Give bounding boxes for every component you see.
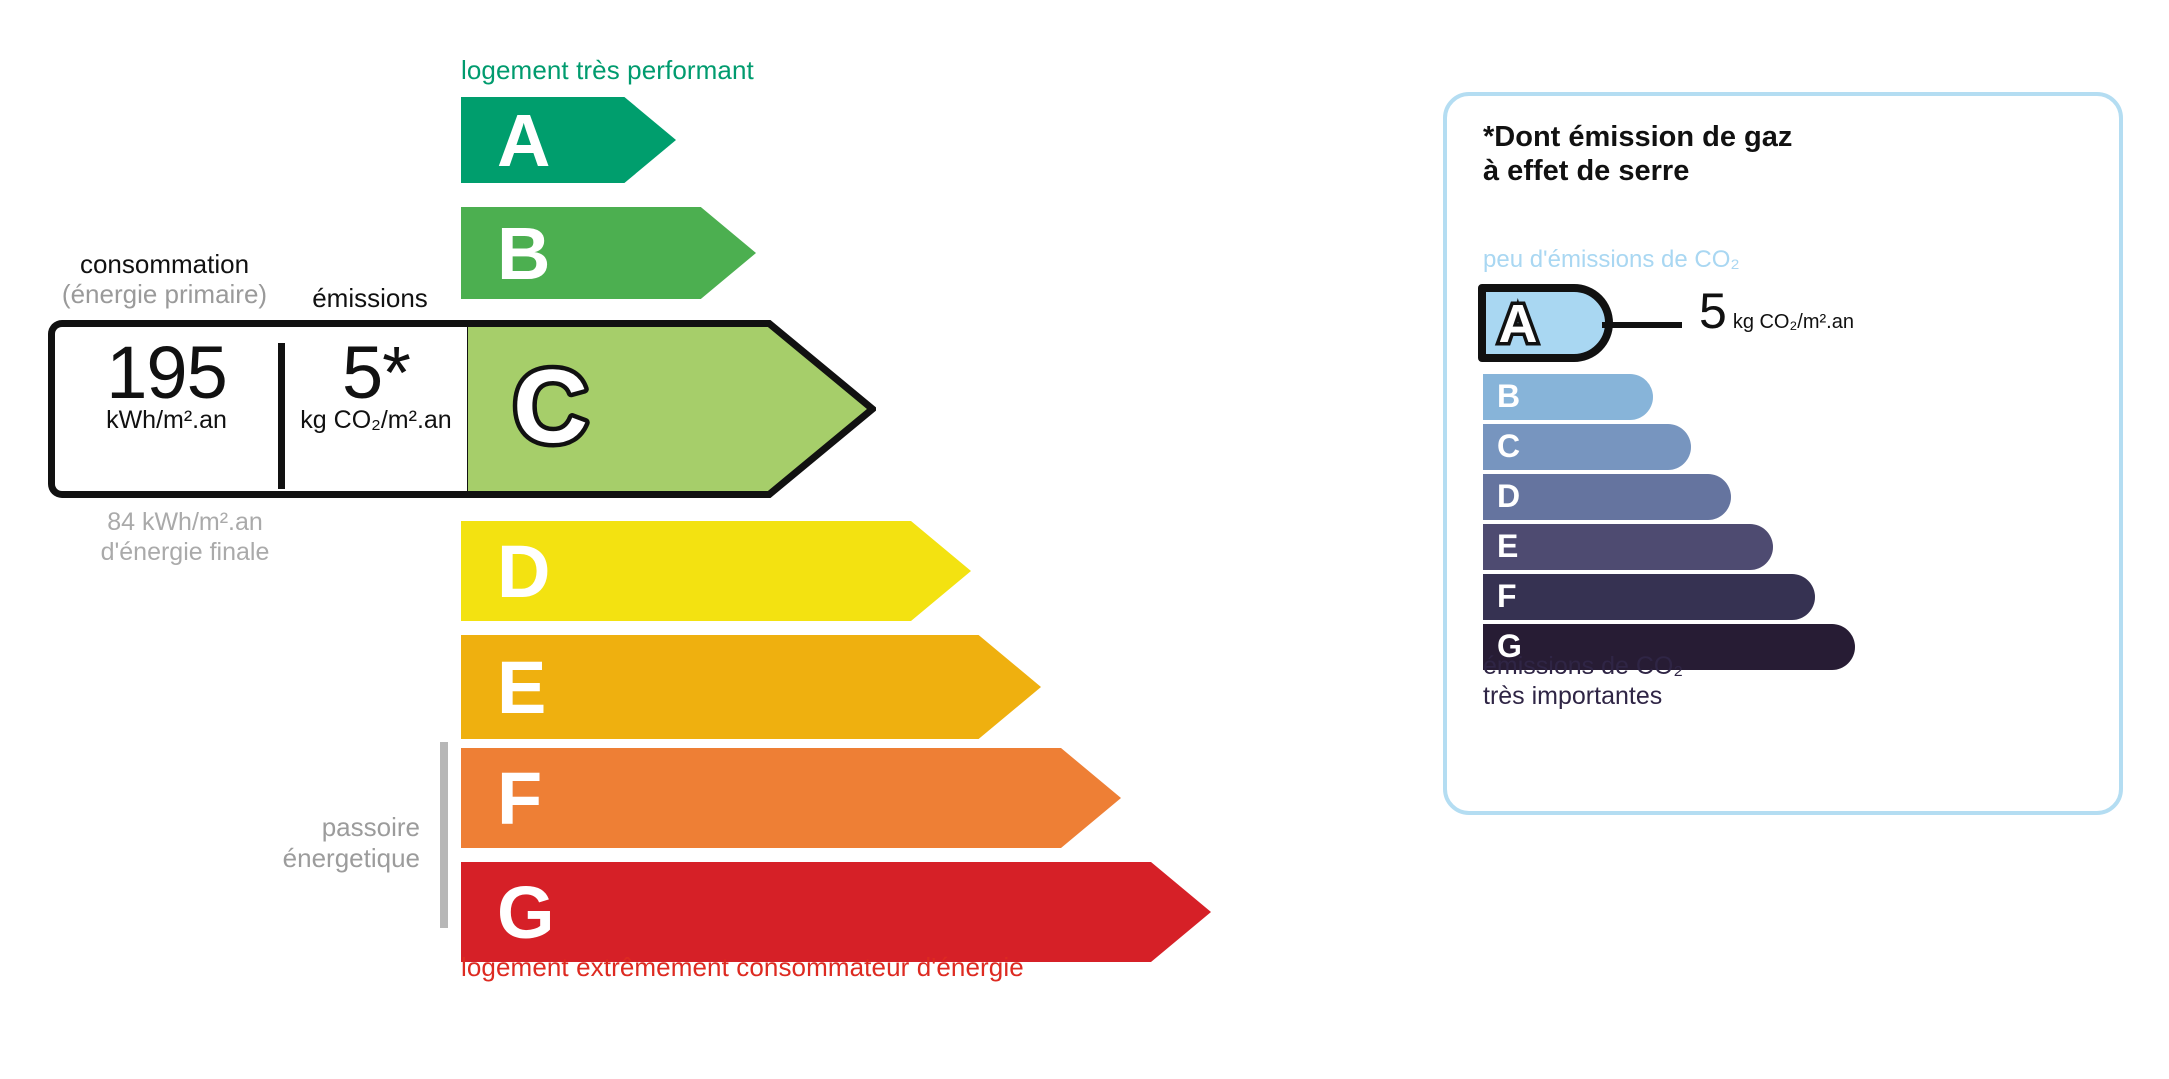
energy-band-d: D	[461, 521, 971, 621]
ges-bar-b: B	[1483, 374, 1653, 420]
consumption-cell: 195 kWh/m².an	[55, 335, 278, 435]
passoire-line1: passoire	[230, 812, 420, 843]
ges-bar-fill	[1483, 524, 1773, 570]
ges-bar-e: E	[1483, 524, 1773, 570]
ges-highlight-unit: kg CO₂/m².an	[1733, 311, 1854, 333]
energy-band-letter: A	[497, 99, 550, 182]
ges-highlight-value: 5	[1699, 283, 1727, 339]
emissions-unit: kg CO₂/m².an	[285, 406, 467, 435]
energy-band-arrow-icon: D	[461, 521, 971, 621]
energy-band-arrow-icon: B	[461, 207, 756, 299]
energy-band-c: C	[461, 320, 876, 498]
energy-band-g: G	[461, 862, 1211, 962]
ges-bar-letter: B	[1497, 380, 1520, 412]
ges-bar-fill	[1483, 574, 1815, 620]
passoire-line2: énergetique	[230, 843, 420, 874]
emissions-header: émissions	[290, 283, 450, 314]
energy-band-letter: C	[513, 349, 588, 465]
ges-bar-letter: E	[1497, 530, 1518, 562]
value-box-divider	[278, 343, 285, 489]
ges-bottom-caption: émissions de CO₂ très importantes	[1483, 651, 1683, 711]
consumption-header: consommation (énergie primaire)	[52, 250, 277, 309]
energy-band-arrow-icon: C	[461, 320, 876, 498]
passoire-label: passoire énergetique	[230, 812, 420, 874]
ges-bar-c: C	[1483, 424, 1691, 470]
energy-band-e: E	[461, 635, 1041, 739]
ges-top-caption: peu d'émissions de CO₂	[1483, 246, 1740, 274]
energy-band-arrow-icon: A	[461, 97, 676, 183]
consumption-header-line2: (énergie primaire)	[52, 280, 277, 310]
consumption-value: 195	[55, 335, 278, 410]
ges-highlight-badge: A	[1478, 284, 1613, 362]
energy-band-arrow-icon: F	[461, 748, 1121, 848]
ges-title: *Dont émission de gaz à effet de serre	[1483, 121, 1913, 189]
ges-bar-letter: D	[1497, 480, 1520, 512]
svg-text:A: A	[1499, 294, 1538, 354]
ges-bar-d: D	[1483, 474, 1731, 520]
final-energy-line1: 84 kWh/m².an	[70, 508, 300, 538]
ges-leader-line	[1602, 322, 1682, 328]
energy-band-arrow-icon: G	[461, 862, 1211, 962]
energy-band-arrow-icon: E	[461, 635, 1041, 739]
energy-band-letter: G	[497, 871, 555, 954]
ges-title-line2: à effet de serre	[1483, 155, 1913, 189]
energy-band-b: B	[461, 207, 756, 299]
passoire-bracket	[440, 742, 448, 928]
ges-bar-fill	[1483, 474, 1731, 520]
ges-bar-letter: F	[1497, 580, 1517, 612]
ges-highlight-value-group: 5kg CO₂/m².an	[1699, 286, 1854, 336]
energy-band-letter: F	[497, 757, 542, 840]
energy-band-letter: D	[497, 530, 550, 613]
consumption-header-line1: consommation	[52, 250, 277, 280]
energy-bottom-caption: logement extrêmement consommateur d'éner…	[461, 952, 1024, 983]
energy-band-a: A	[461, 97, 676, 183]
energy-band-letter: B	[497, 212, 550, 295]
energy-performance-panel: logement très performant ABCDEFG 195 kWh…	[0, 0, 1420, 1079]
energy-value-box: 195 kWh/m².an 5* kg CO₂/m².an	[48, 320, 467, 498]
ges-bottom-line1: émissions de CO₂	[1483, 651, 1683, 681]
ges-title-line1: *Dont émission de gaz	[1483, 121, 1913, 155]
emissions-cell: 5* kg CO₂/m².an	[285, 335, 467, 435]
final-energy-note: 84 kWh/m².an d'énergie finale	[70, 508, 300, 567]
emissions-value: 5*	[285, 335, 467, 410]
energy-top-caption: logement très performant	[461, 55, 754, 86]
ges-bar-letter: C	[1497, 430, 1520, 462]
ges-bar-f: F	[1483, 574, 1815, 620]
consumption-unit: kWh/m².an	[55, 406, 278, 435]
ges-panel: *Dont émission de gaz à effet de serre p…	[1443, 92, 2123, 815]
energy-band-letter: E	[497, 646, 546, 729]
energy-band-f: F	[461, 748, 1121, 848]
ges-bottom-line2: très importantes	[1483, 681, 1683, 711]
final-energy-line2: d'énergie finale	[70, 538, 300, 568]
ges-highlight-pill-icon: A	[1478, 284, 1613, 362]
dpe-label: logement très performant ABCDEFG 195 kWh…	[0, 0, 2169, 1079]
